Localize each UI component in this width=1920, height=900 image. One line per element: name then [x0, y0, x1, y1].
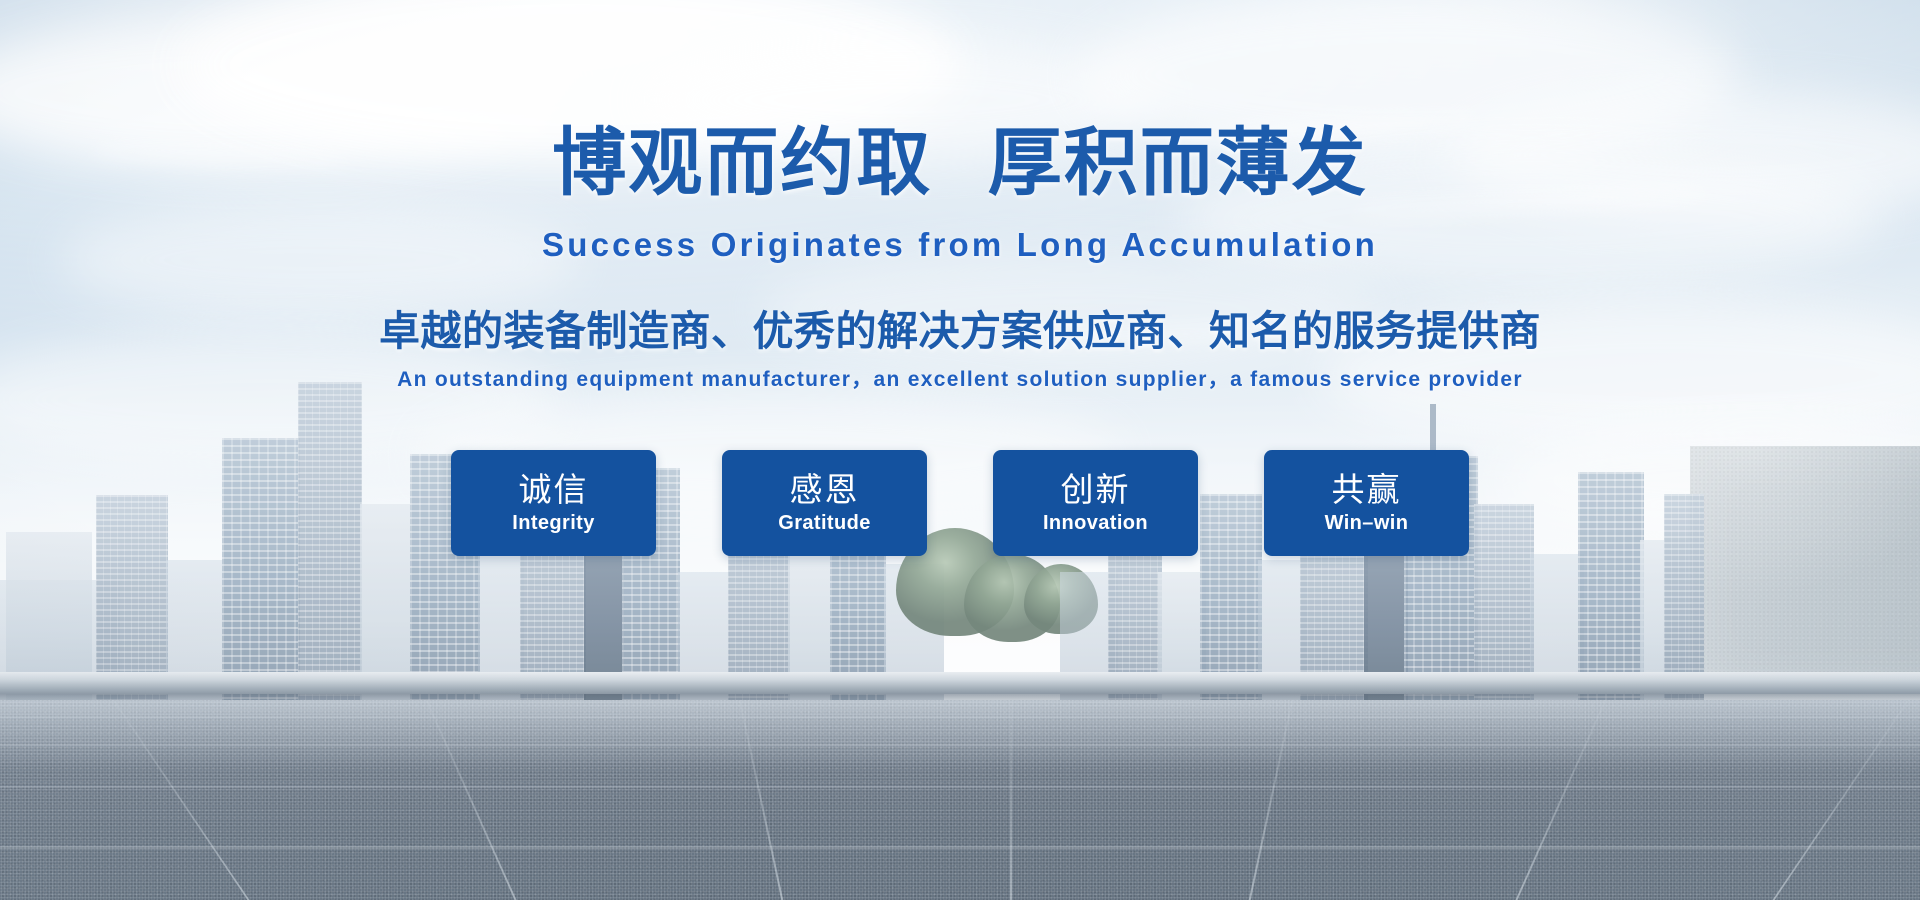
value-card-win-win[interactable]: 共赢 Win–win [1264, 450, 1469, 556]
value-card-label-en: Integrity [512, 510, 595, 536]
headline-english: Success Originates from Long Accumulatio… [0, 225, 1920, 265]
subtitle-chinese: 卓越的装备制造商、优秀的解决方案供应商、知名的服务提供商 [0, 305, 1920, 357]
value-card-integrity[interactable]: 诚信 Integrity [451, 450, 656, 556]
value-card-label-en: Win–win [1325, 510, 1409, 536]
value-card-label-en: Gratitude [778, 510, 871, 536]
value-card-list: 诚信 Integrity 感恩 Gratitude 创新 Innovation … [0, 450, 1920, 556]
value-card-innovation[interactable]: 创新 Innovation [993, 450, 1198, 556]
value-card-label-en: Innovation [1043, 510, 1148, 536]
value-card-label-cn: 诚信 [519, 471, 589, 509]
headline-chinese: 博观而约取 厚积而薄发 [0, 120, 1920, 206]
banner-content: 博观而约取 厚积而薄发 Success Originates from Long… [0, 0, 1920, 900]
subtitle-english: An outstanding equipment manufacturer，an… [0, 366, 1920, 394]
value-card-label-cn: 创新 [1061, 471, 1131, 509]
value-card-gratitude[interactable]: 感恩 Gratitude [722, 450, 927, 556]
value-card-label-cn: 共赢 [1332, 471, 1402, 509]
value-card-label-cn: 感恩 [790, 471, 860, 509]
hero-banner: 博观而约取 厚积而薄发 Success Originates from Long… [0, 0, 1920, 900]
